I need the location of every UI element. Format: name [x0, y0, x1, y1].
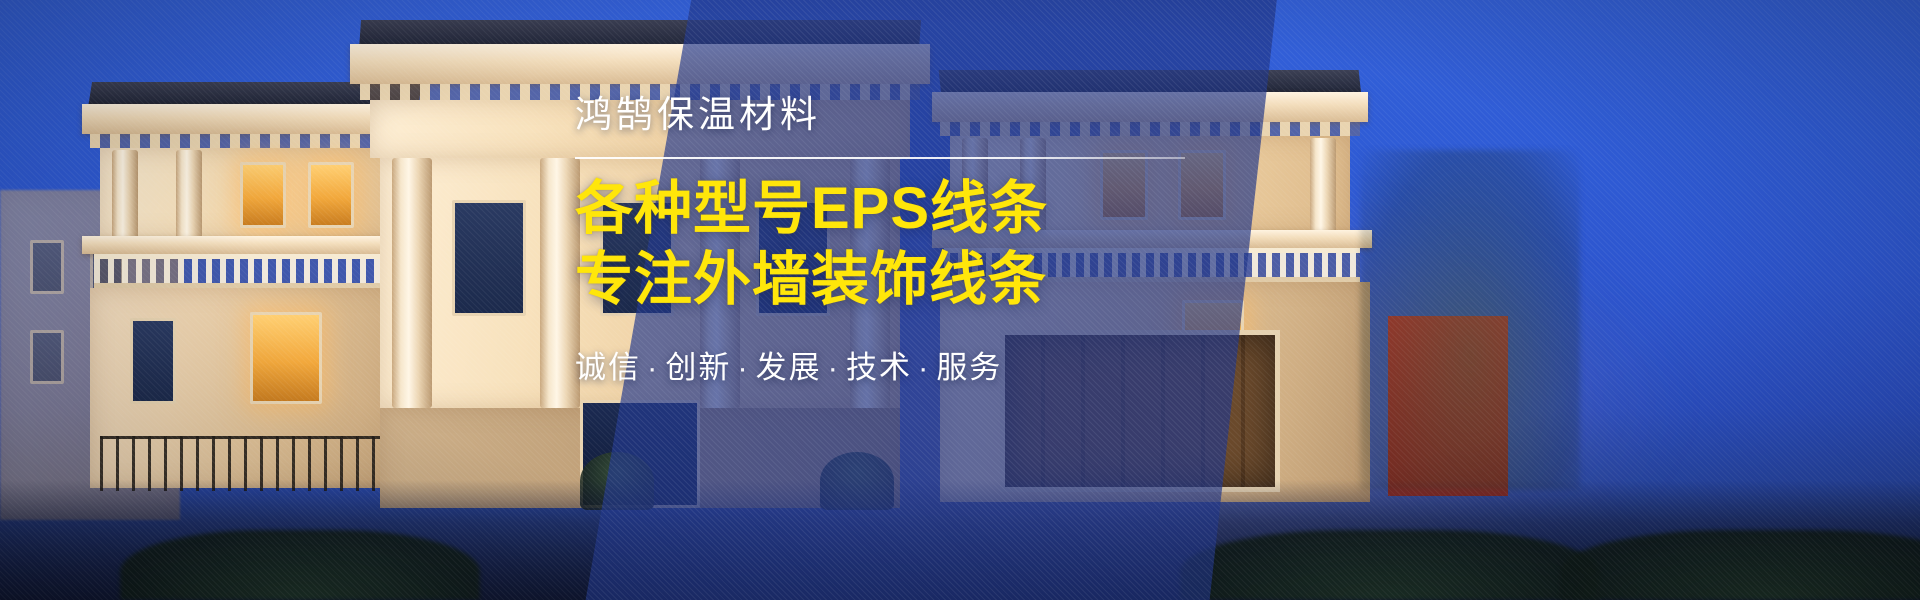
tree-silhouette [1360, 150, 1580, 490]
tagline-separator: · [912, 350, 936, 385]
title-divider [575, 157, 1185, 159]
banner-copy-block: 鸿鹄保温材料 各种型号EPS线条 专注外墙装饰线条 诚信·创新·发展·技术·服务 [575, 96, 1215, 387]
tagline-item: 服务 [936, 350, 1002, 385]
column [112, 150, 138, 242]
value-tagline: 诚信·创新·发展·技术·服务 [575, 342, 1215, 387]
brand-eyebrow: 鸿鹄保温材料 [575, 96, 1215, 133]
neighbor-window [30, 240, 64, 294]
tagline-item: 诚信 [575, 350, 641, 385]
window [452, 200, 526, 316]
lit-window [308, 162, 354, 228]
neighbor-window [30, 330, 64, 384]
portico-column [392, 158, 432, 408]
tagline-item: 发展 [756, 350, 822, 385]
column [1310, 138, 1336, 234]
hero-banner: 鸿鹄保温材料 各种型号EPS线条 专注外墙装饰线条 诚信·创新·发展·技术·服务 [0, 0, 1920, 600]
tagline-separator: · [822, 350, 846, 385]
tagline-separator: · [641, 350, 665, 385]
column [176, 150, 202, 242]
tagline-separator: · [731, 350, 755, 385]
hedge [1560, 530, 1920, 600]
balustrade [94, 254, 424, 288]
hedge [1180, 530, 1600, 600]
hedge [120, 530, 480, 600]
headline-line-1: 各种型号EPS线条 [575, 173, 1215, 244]
tagline-item: 创新 [665, 350, 731, 385]
lit-window [240, 162, 286, 228]
lit-window [250, 312, 322, 404]
portico-entablature [350, 44, 930, 84]
tagline-item: 技术 [846, 350, 912, 385]
portico-column [540, 158, 580, 408]
window [130, 318, 176, 404]
headline-line-2: 专注外墙装饰线条 [575, 244, 1215, 315]
